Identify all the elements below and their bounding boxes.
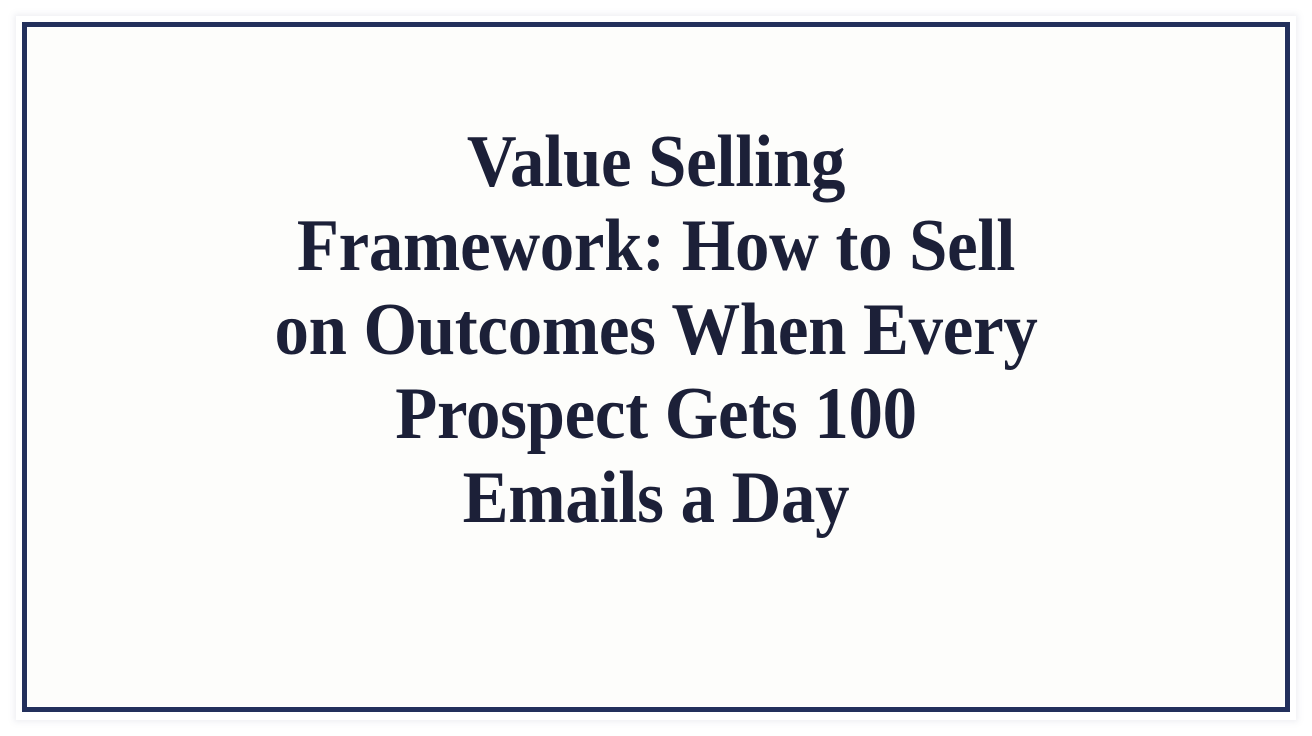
- title-line-4: Prospect Gets 100: [247, 372, 1065, 456]
- title-line-1: Value Selling: [247, 120, 1065, 204]
- title-area: Value Selling Framework: How to Sell on …: [32, 32, 1280, 702]
- title-line-5: Emails a Day: [247, 456, 1065, 540]
- page-title: Value Selling Framework: How to Sell on …: [191, 120, 1121, 540]
- title-line-2: Framework: How to Sell: [247, 204, 1065, 288]
- slide-frame-border: Value Selling Framework: How to Sell on …: [22, 22, 1290, 712]
- title-line-3: on Outcomes When Every: [247, 288, 1065, 372]
- slide-canvas: Value Selling Framework: How to Sell on …: [0, 0, 1312, 736]
